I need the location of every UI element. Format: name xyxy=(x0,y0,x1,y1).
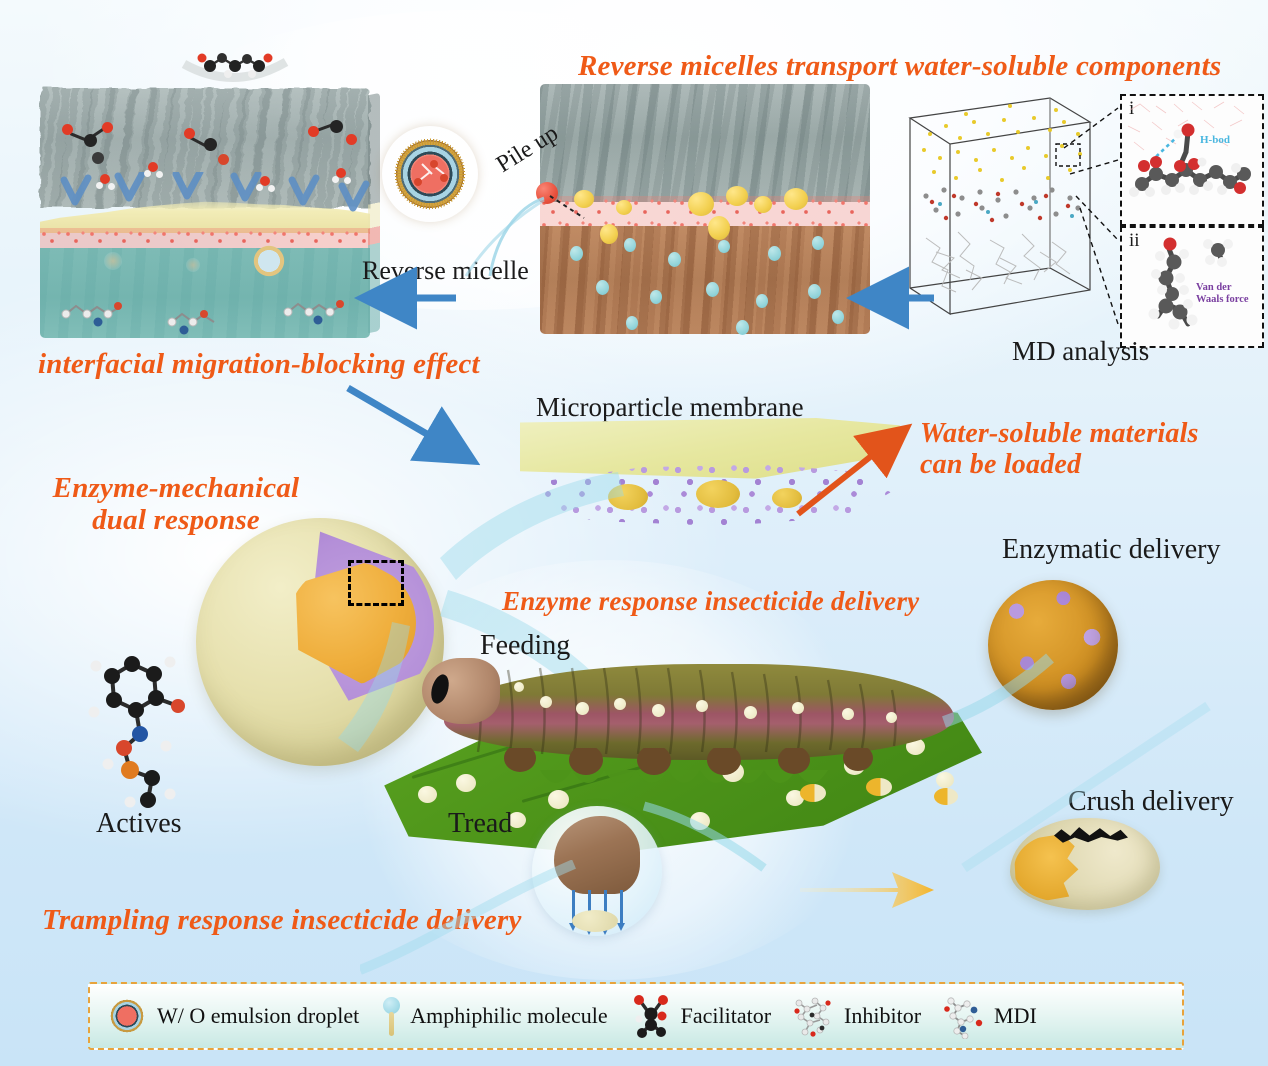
yellow-droplet xyxy=(754,196,772,213)
micelle-inner-water-arrows xyxy=(404,150,458,200)
caterpillar-dot xyxy=(696,700,708,712)
background-swoosh-right xyxy=(960,700,1220,880)
water-pocket xyxy=(768,246,781,261)
legend-bar: W/ O emulsion droplet Amphiphilic molecu… xyxy=(88,982,1184,1050)
mdi-chains-in-water xyxy=(50,278,370,340)
enzymatic-delivery-label: Enzymatic delivery xyxy=(1002,534,1220,566)
legend-label-inhibitor: Inhibitor xyxy=(844,1003,921,1029)
background-swoosh-left xyxy=(360,860,580,980)
tread-bubble-connector xyxy=(640,790,770,880)
inhibitor-molecule-icon xyxy=(791,993,837,1039)
micelle-to-slab-curve xyxy=(460,180,550,290)
md-inset-panel-i: i xyxy=(1120,94,1264,226)
legend-item-wo-emulsion: W/ O emulsion droplet xyxy=(104,993,359,1039)
water-soluble-loading-arrow xyxy=(790,438,900,522)
caterpillar-dot xyxy=(652,704,665,717)
yellow-droplet xyxy=(784,188,808,210)
legend-label-mdi: MDI xyxy=(994,1003,1037,1029)
caterpillar-dot xyxy=(842,708,854,720)
heading-enzyme-response: Enzyme response insecticide delivery xyxy=(502,586,919,616)
dispersed-inhibitor-cluster xyxy=(104,252,122,270)
legend-label-amphiphilic: Amphiphilic molecule xyxy=(410,1003,607,1029)
flow-arrow-md-to-slab2 xyxy=(876,286,938,310)
feeding-label: Feeding xyxy=(480,630,570,662)
flow-arrow-slab2-to-slab1 xyxy=(382,286,460,310)
caterpillar-dot xyxy=(576,702,589,715)
tread-to-crush-arrow xyxy=(798,864,938,912)
water-pocket xyxy=(706,282,719,297)
legend-item-amphiphilic: Amphiphilic molecule xyxy=(379,993,607,1039)
legend-label-wo-emulsion: W/ O emulsion droplet xyxy=(157,1003,359,1029)
reverse-micelle-slab-diagram xyxy=(540,84,870,334)
caterpillar xyxy=(444,648,974,798)
water-pocket xyxy=(624,238,636,252)
loaded-yellow-droplet xyxy=(696,480,740,508)
water-pocket xyxy=(718,240,730,253)
yellow-droplet xyxy=(708,216,730,240)
water-pocket xyxy=(808,284,821,299)
caterpillar-dot xyxy=(744,706,757,719)
heading-water-soluble-loaded: Water-soluble materials can be loaded xyxy=(920,418,1199,481)
tread-label: Tread xyxy=(448,808,512,840)
blocking-chevrons xyxy=(42,172,372,242)
caterpillar-prolegs xyxy=(502,748,922,782)
slab2-grey-oil-layer xyxy=(540,84,870,202)
water-pocket xyxy=(668,252,681,267)
water-pocket xyxy=(832,310,844,324)
water-pocket xyxy=(756,294,768,308)
heading-reverse-micelles: Reverse micelles transport water-soluble… xyxy=(578,50,1221,82)
embedded-micelle xyxy=(252,244,286,278)
caterpillar-dot xyxy=(614,698,626,710)
caterpillar-dot xyxy=(514,682,524,692)
actives-molecule xyxy=(74,650,234,810)
yellow-droplet xyxy=(600,224,618,244)
facilitator-molecule-icon xyxy=(628,993,674,1039)
heading-interfacial: interfacial migration-blocking effect xyxy=(38,348,480,380)
interfacial-slab-diagram xyxy=(40,88,370,338)
caterpillar-dot xyxy=(792,702,804,714)
water-pocket xyxy=(650,290,662,304)
legend-item-inhibitor: Inhibitor xyxy=(791,993,921,1039)
actives-label: Actives xyxy=(96,808,182,840)
pile-up-dashed-connector xyxy=(548,192,588,226)
yellow-droplet xyxy=(616,200,632,215)
water-pocket xyxy=(596,280,609,295)
mdi-molecule-icon xyxy=(941,993,987,1039)
water-pocket xyxy=(570,246,583,261)
surface-molecule-cluster xyxy=(180,48,290,92)
tread-force-arrow xyxy=(620,890,623,924)
water-pocket xyxy=(626,316,638,330)
yellow-droplet xyxy=(688,192,714,216)
amphiphilic-molecule-icon xyxy=(379,993,403,1039)
caterpillar-eye xyxy=(428,672,452,705)
caterpillar-head xyxy=(422,658,500,724)
legend-item-facilitator: Facilitator xyxy=(628,993,771,1039)
md-inset-leader-lines xyxy=(1020,100,1130,350)
dispersed-inhibitor-cluster xyxy=(186,258,200,272)
water-pocket xyxy=(736,320,749,335)
md-analysis-label: MD analysis xyxy=(1012,336,1149,367)
wo-emulsion-droplet-icon xyxy=(104,993,150,1039)
caterpillar-dot xyxy=(886,712,897,723)
legend-item-mdi: MDI xyxy=(941,993,1037,1039)
md-inset-panel-ii: ii Van der Waals force xyxy=(1120,226,1264,348)
caterpillar-dot xyxy=(540,696,552,708)
legend-label-facilitator: Facilitator xyxy=(681,1003,771,1029)
capsule-pellet xyxy=(418,786,437,803)
md-inset-hbond-label: H-bod xyxy=(1200,134,1230,146)
md-inset-vdw-label: Van der Waals force xyxy=(1196,282,1249,306)
yellow-droplet xyxy=(726,186,748,206)
water-pocket xyxy=(812,236,824,250)
